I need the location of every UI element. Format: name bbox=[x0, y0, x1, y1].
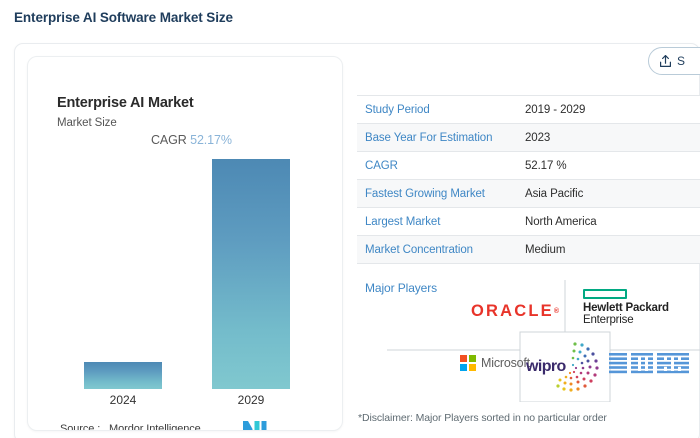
chart-card: Enterprise AI Market Market Size CAGR 52… bbox=[27, 56, 343, 431]
table-row: CAGR 52.17 % bbox=[357, 152, 700, 180]
bar-2029[interactable] bbox=[212, 159, 290, 389]
hpe-logo-line2: Enterprise bbox=[583, 314, 633, 327]
hewlett-packard-enterprise-logo: Hewlett Packard Enterprise bbox=[583, 286, 693, 330]
table-cell-value: 2019 - 2029 bbox=[525, 104, 585, 116]
x-tick-2029: 2029 bbox=[212, 393, 290, 407]
table-cell-value: North America bbox=[525, 216, 597, 228]
ibm-logo bbox=[605, 352, 695, 378]
market-info-table: Study Period 2019 - 2029 Base Year For E… bbox=[357, 95, 700, 264]
oracle-logo: ORACLE® bbox=[467, 300, 563, 322]
mordor-intelligence-logo bbox=[241, 418, 269, 431]
chart-subtitle: Market Size bbox=[57, 117, 117, 129]
table-row: Fastest Growing Market Asia Pacific bbox=[357, 180, 700, 208]
major-players-disclaimer: *Disclaimer: Major Players sorted in no … bbox=[358, 412, 607, 424]
share-button[interactable]: S bbox=[648, 47, 700, 75]
source-note: Source : Mordor Intelligence bbox=[60, 423, 201, 431]
cagr-label: CAGR bbox=[151, 133, 187, 147]
microsoft-squares-icon bbox=[460, 355, 476, 371]
hpe-green-bar-icon bbox=[583, 289, 627, 299]
page-title: Enterprise AI Software Market Size bbox=[14, 10, 233, 25]
table-cell-value: Asia Pacific bbox=[525, 188, 583, 200]
table-cell-key: CAGR bbox=[365, 160, 525, 172]
table-row: Largest Market North America bbox=[357, 208, 700, 236]
table-cell-key: Largest Market bbox=[365, 216, 525, 228]
oracle-logo-mark: ® bbox=[554, 308, 559, 315]
table-cell-value: Medium bbox=[525, 244, 565, 256]
chart-title: Enterprise AI Market bbox=[57, 95, 193, 111]
table-row: Base Year For Estimation 2023 bbox=[357, 124, 700, 152]
table-cell-key: Base Year For Estimation bbox=[365, 132, 525, 144]
source-label: Source : bbox=[60, 423, 100, 431]
table-cell-value: 52.17 % bbox=[525, 160, 567, 172]
table-cell-value: 2023 bbox=[525, 132, 550, 144]
share-button-label: S bbox=[677, 54, 685, 68]
hpe-logo-line1: Hewlett Packard bbox=[583, 302, 669, 314]
wipro-logo-text: wipro bbox=[526, 358, 566, 376]
page-root: Enterprise AI Software Market Size S Ent… bbox=[0, 0, 700, 438]
table-row: Study Period 2019 - 2029 bbox=[357, 96, 700, 124]
table-cell-key: Fastest Growing Market bbox=[365, 188, 525, 200]
table-cell-key: Market Concentration bbox=[365, 244, 525, 256]
oracle-logo-text: ORACLE bbox=[471, 302, 554, 321]
cagr-annotation: CAGR 52.17% bbox=[151, 133, 232, 147]
table-cell-key: Study Period bbox=[365, 104, 525, 116]
wipro-logo: wipro bbox=[520, 332, 610, 398]
major-players-grid: ORACLE® Hewlett Packard Enterprise Micro… bbox=[357, 272, 700, 402]
cagr-value: 52.17% bbox=[190, 133, 232, 147]
ibm-striped-icon bbox=[607, 352, 693, 378]
source-name: Mordor Intelligence bbox=[109, 423, 201, 431]
bar-2024[interactable] bbox=[84, 362, 162, 389]
table-row: Market Concentration Medium bbox=[357, 236, 700, 264]
x-tick-2024: 2024 bbox=[84, 393, 162, 407]
share-upload-icon bbox=[659, 54, 672, 68]
